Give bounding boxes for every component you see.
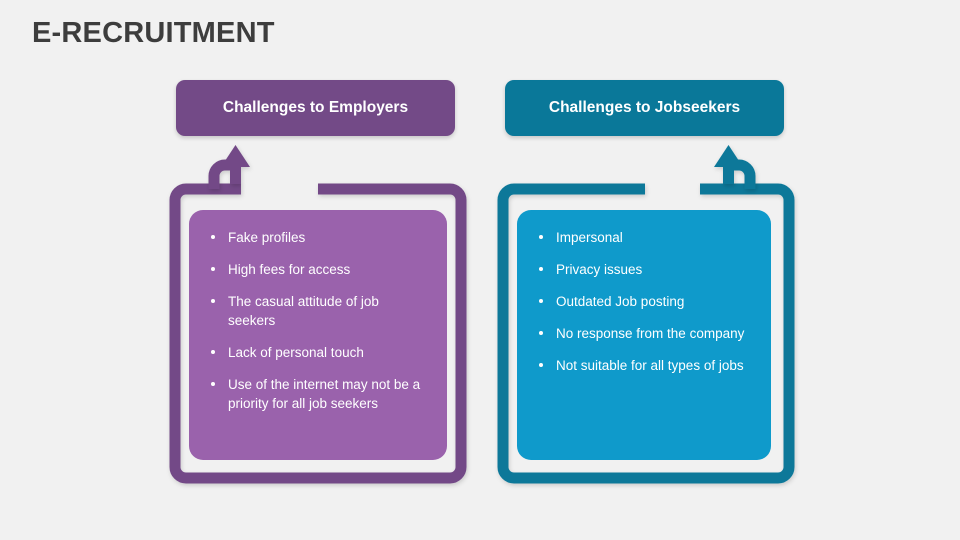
- list-item: Fake profiles: [209, 228, 427, 247]
- list-item-label: Impersonal: [556, 230, 623, 245]
- list-item: Lack of personal touch: [209, 343, 427, 362]
- list-item: Impersonal: [537, 228, 751, 247]
- list-item: Use of the internet may not be a priorit…: [209, 375, 427, 413]
- list-item-label: Lack of personal touch: [228, 345, 364, 360]
- list-item: High fees for access: [209, 260, 427, 279]
- list-item: No response from the company: [537, 324, 751, 343]
- list-item: Privacy issues: [537, 260, 751, 279]
- bullet-dot-icon: [211, 299, 215, 303]
- list-item-label: The casual attitude of job seekers: [228, 294, 379, 328]
- slide-canvas: E-RECRUITMENT Chall: [0, 0, 960, 540]
- card-employers: Fake profiles High fees for access The c…: [189, 210, 447, 460]
- bullet-dot-icon: [211, 350, 215, 354]
- list-item-label: Not suitable for all types of jobs: [556, 358, 744, 373]
- page-title: E-RECRUITMENT: [32, 17, 275, 50]
- bullet-list-jobseekers: Impersonal Privacy issues Outdated Job p…: [537, 228, 751, 375]
- bullet-list-employers: Fake profiles High fees for access The c…: [209, 228, 427, 413]
- bullet-dot-icon: [211, 267, 215, 271]
- list-item: Not suitable for all types of jobs: [537, 356, 751, 375]
- list-item-label: No response from the company: [556, 326, 744, 341]
- up-arrow-icon-jobseekers: [714, 145, 750, 189]
- list-item-label: Fake profiles: [228, 230, 305, 245]
- header-jobseekers-label: Challenges to Jobseekers: [549, 99, 740, 117]
- bullet-dot-icon: [539, 235, 543, 239]
- list-item-label: Use of the internet may not be a priorit…: [228, 377, 420, 411]
- connector-frames: [0, 0, 960, 540]
- header-employers-label: Challenges to Employers: [223, 99, 408, 117]
- up-arrow-icon-employers: [214, 145, 250, 189]
- list-item-label: High fees for access: [228, 262, 350, 277]
- bullet-dot-icon: [539, 331, 543, 335]
- list-item: The casual attitude of job seekers: [209, 292, 427, 330]
- list-item-label: Outdated Job posting: [556, 294, 684, 309]
- bullet-dot-icon: [211, 235, 215, 239]
- header-jobseekers[interactable]: Challenges to Jobseekers: [505, 80, 784, 136]
- card-jobseekers: Impersonal Privacy issues Outdated Job p…: [517, 210, 771, 460]
- bullet-dot-icon: [539, 299, 543, 303]
- bullet-dot-icon: [539, 267, 543, 271]
- list-item-label: Privacy issues: [556, 262, 642, 277]
- bullet-dot-icon: [539, 363, 543, 367]
- list-item: Outdated Job posting: [537, 292, 751, 311]
- bullet-dot-icon: [211, 382, 215, 386]
- header-employers[interactable]: Challenges to Employers: [176, 80, 455, 136]
